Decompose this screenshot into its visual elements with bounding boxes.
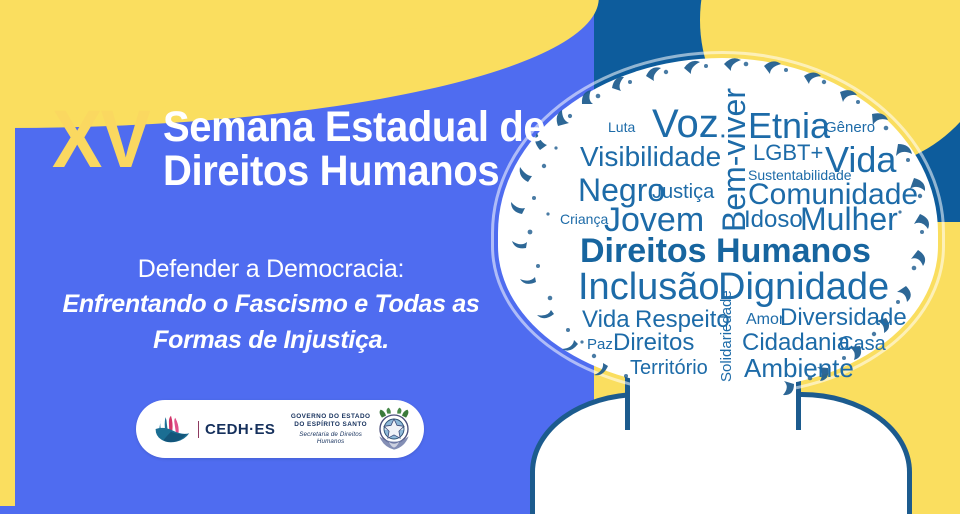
word-cloud-term: Dignidade xyxy=(718,268,889,306)
logo-bar: CEDH·ES GOVERNO DO ESTADO DO ESPÍRITO SA… xyxy=(136,400,424,458)
page-title: XV Semana Estadual de Direitos Humanos xyxy=(52,105,574,194)
cedh-label: CEDH·ES xyxy=(198,421,275,438)
dove-hand-icon xyxy=(150,412,192,446)
word-cloud-term: Etnia xyxy=(748,108,830,144)
edition-number: XV xyxy=(52,105,149,176)
word-cloud-term: Idoso xyxy=(744,208,803,232)
word-cloud-term: Direitos Humanos xyxy=(580,234,871,268)
word-cloud-term: LGBT+ xyxy=(753,142,823,164)
gov-line-3: Secretaria de Direitos Humanos xyxy=(287,431,374,445)
word-cloud-term: Visibilidade xyxy=(580,143,721,171)
word-cloud-term: Diversidade xyxy=(780,306,907,330)
title-line-2: Direitos Humanos xyxy=(163,149,545,193)
word-cloud-term: Direitos xyxy=(613,331,694,355)
word-cloud-term: Voz xyxy=(652,104,719,144)
word-cloud-term: Gênero xyxy=(825,120,875,135)
word-cloud-term: Casa xyxy=(839,334,886,354)
title-lines: Semana Estadual de Direitos Humanos xyxy=(163,105,545,194)
subtitle-line-2: Enfrentando o Fascismo e Todas as xyxy=(36,288,506,320)
word-cloud-term: Amor xyxy=(746,312,784,328)
word-cloud-term: Ambiente xyxy=(744,355,854,381)
left-content-column: XV Semana Estadual de Direitos Humanos D… xyxy=(0,0,540,514)
subtitle-line-1: Defender a Democracia: xyxy=(36,255,506,284)
word-cloud-term: Luta xyxy=(608,120,635,134)
word-cloud-term: Mulher xyxy=(800,203,898,235)
gov-line-1: GOVERNO DO ESTADO xyxy=(287,413,374,421)
word-cloud-term: Solidariedade xyxy=(719,290,734,382)
word-cloud-term: Inclusão xyxy=(578,268,720,306)
government-block: GOVERNO DO ESTADO DO ESPÍRITO SANTO Secr… xyxy=(287,413,374,445)
subtitle-block: Defender a Democracia: Enfrentando o Fas… xyxy=(36,255,506,356)
poster-canvas: LutaVozVisibilidadeBem-viverEtniaGêneroL… xyxy=(0,0,960,514)
title-line-1: Semana Estadual de xyxy=(163,105,545,149)
espirito-santo-coat-of-arms-icon xyxy=(374,407,414,451)
gov-line-2: DO ESPÍRITO SANTO xyxy=(287,421,374,429)
word-cloud-term: Paz xyxy=(587,337,613,352)
subtitle-line-3: Formas de Injustiça. xyxy=(36,324,506,356)
word-cloud-term: Território xyxy=(630,358,708,378)
word-cloud-term: Justiça xyxy=(652,182,714,202)
person-silhouette: LutaVozVisibilidadeBem-viverEtniaGêneroL… xyxy=(470,0,960,514)
word-cloud: LutaVozVisibilidadeBem-viverEtniaGêneroL… xyxy=(470,0,960,420)
word-cloud-term: Criança xyxy=(560,212,608,226)
word-cloud-term: Cidadania xyxy=(742,331,850,355)
